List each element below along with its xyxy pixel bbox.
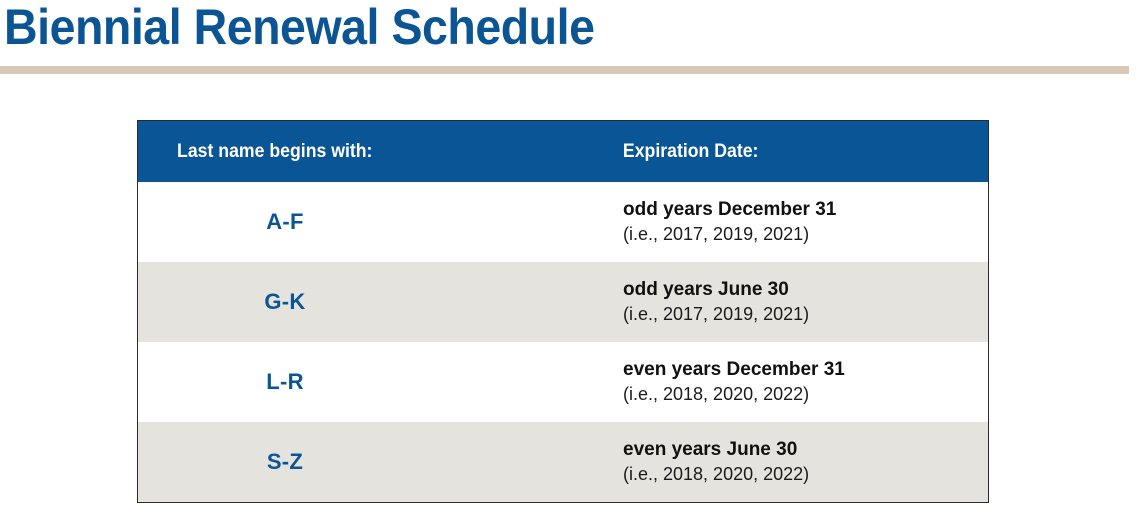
column-header-expiration-date: Expiration Date:: [622, 141, 962, 163]
table-header-row: Last name begins with: Expiration Date:: [138, 121, 988, 182]
expiration-date-primary: odd years December 31: [623, 198, 988, 222]
table-row: S-Z even years June 30 (i.e., 2018, 2020…: [138, 422, 988, 502]
expiration-date-primary: even years June 30: [623, 438, 988, 462]
cell-last-name-range: G-K: [138, 289, 622, 315]
cell-last-name-range: L-R: [138, 369, 622, 395]
cell-expiration-date: odd years December 31 (i.e., 2017, 2019,…: [622, 198, 988, 246]
expiration-date-primary: even years December 31: [623, 358, 988, 382]
expiration-date-examples: (i.e., 2018, 2020, 2022): [623, 382, 988, 406]
expiration-date-examples: (i.e., 2017, 2019, 2021): [623, 222, 988, 246]
biennial-renewal-schedule-table: Last name begins with: Expiration Date: …: [137, 120, 989, 503]
expiration-date-primary: odd years June 30: [623, 278, 988, 302]
table-row: A-F odd years December 31 (i.e., 2017, 2…: [138, 182, 988, 262]
table-row: G-K odd years June 30 (i.e., 2017, 2019,…: [138, 262, 988, 342]
column-header-last-name: Last name begins with:: [138, 141, 588, 163]
cell-last-name-range: S-Z: [138, 449, 622, 475]
cell-expiration-date: even years December 31 (i.e., 2018, 2020…: [622, 358, 988, 406]
title-divider-rule: [0, 66, 1129, 74]
table-row: L-R even years December 31 (i.e., 2018, …: [138, 342, 988, 422]
cell-expiration-date: odd years June 30 (i.e., 2017, 2019, 202…: [622, 278, 988, 326]
page-title: Biennial Renewal Schedule: [4, 0, 594, 56]
expiration-date-examples: (i.e., 2017, 2019, 2021): [623, 302, 988, 326]
cell-expiration-date: even years June 30 (i.e., 2018, 2020, 20…: [622, 438, 988, 486]
expiration-date-examples: (i.e., 2018, 2020, 2022): [623, 462, 988, 486]
cell-last-name-range: A-F: [138, 209, 622, 235]
